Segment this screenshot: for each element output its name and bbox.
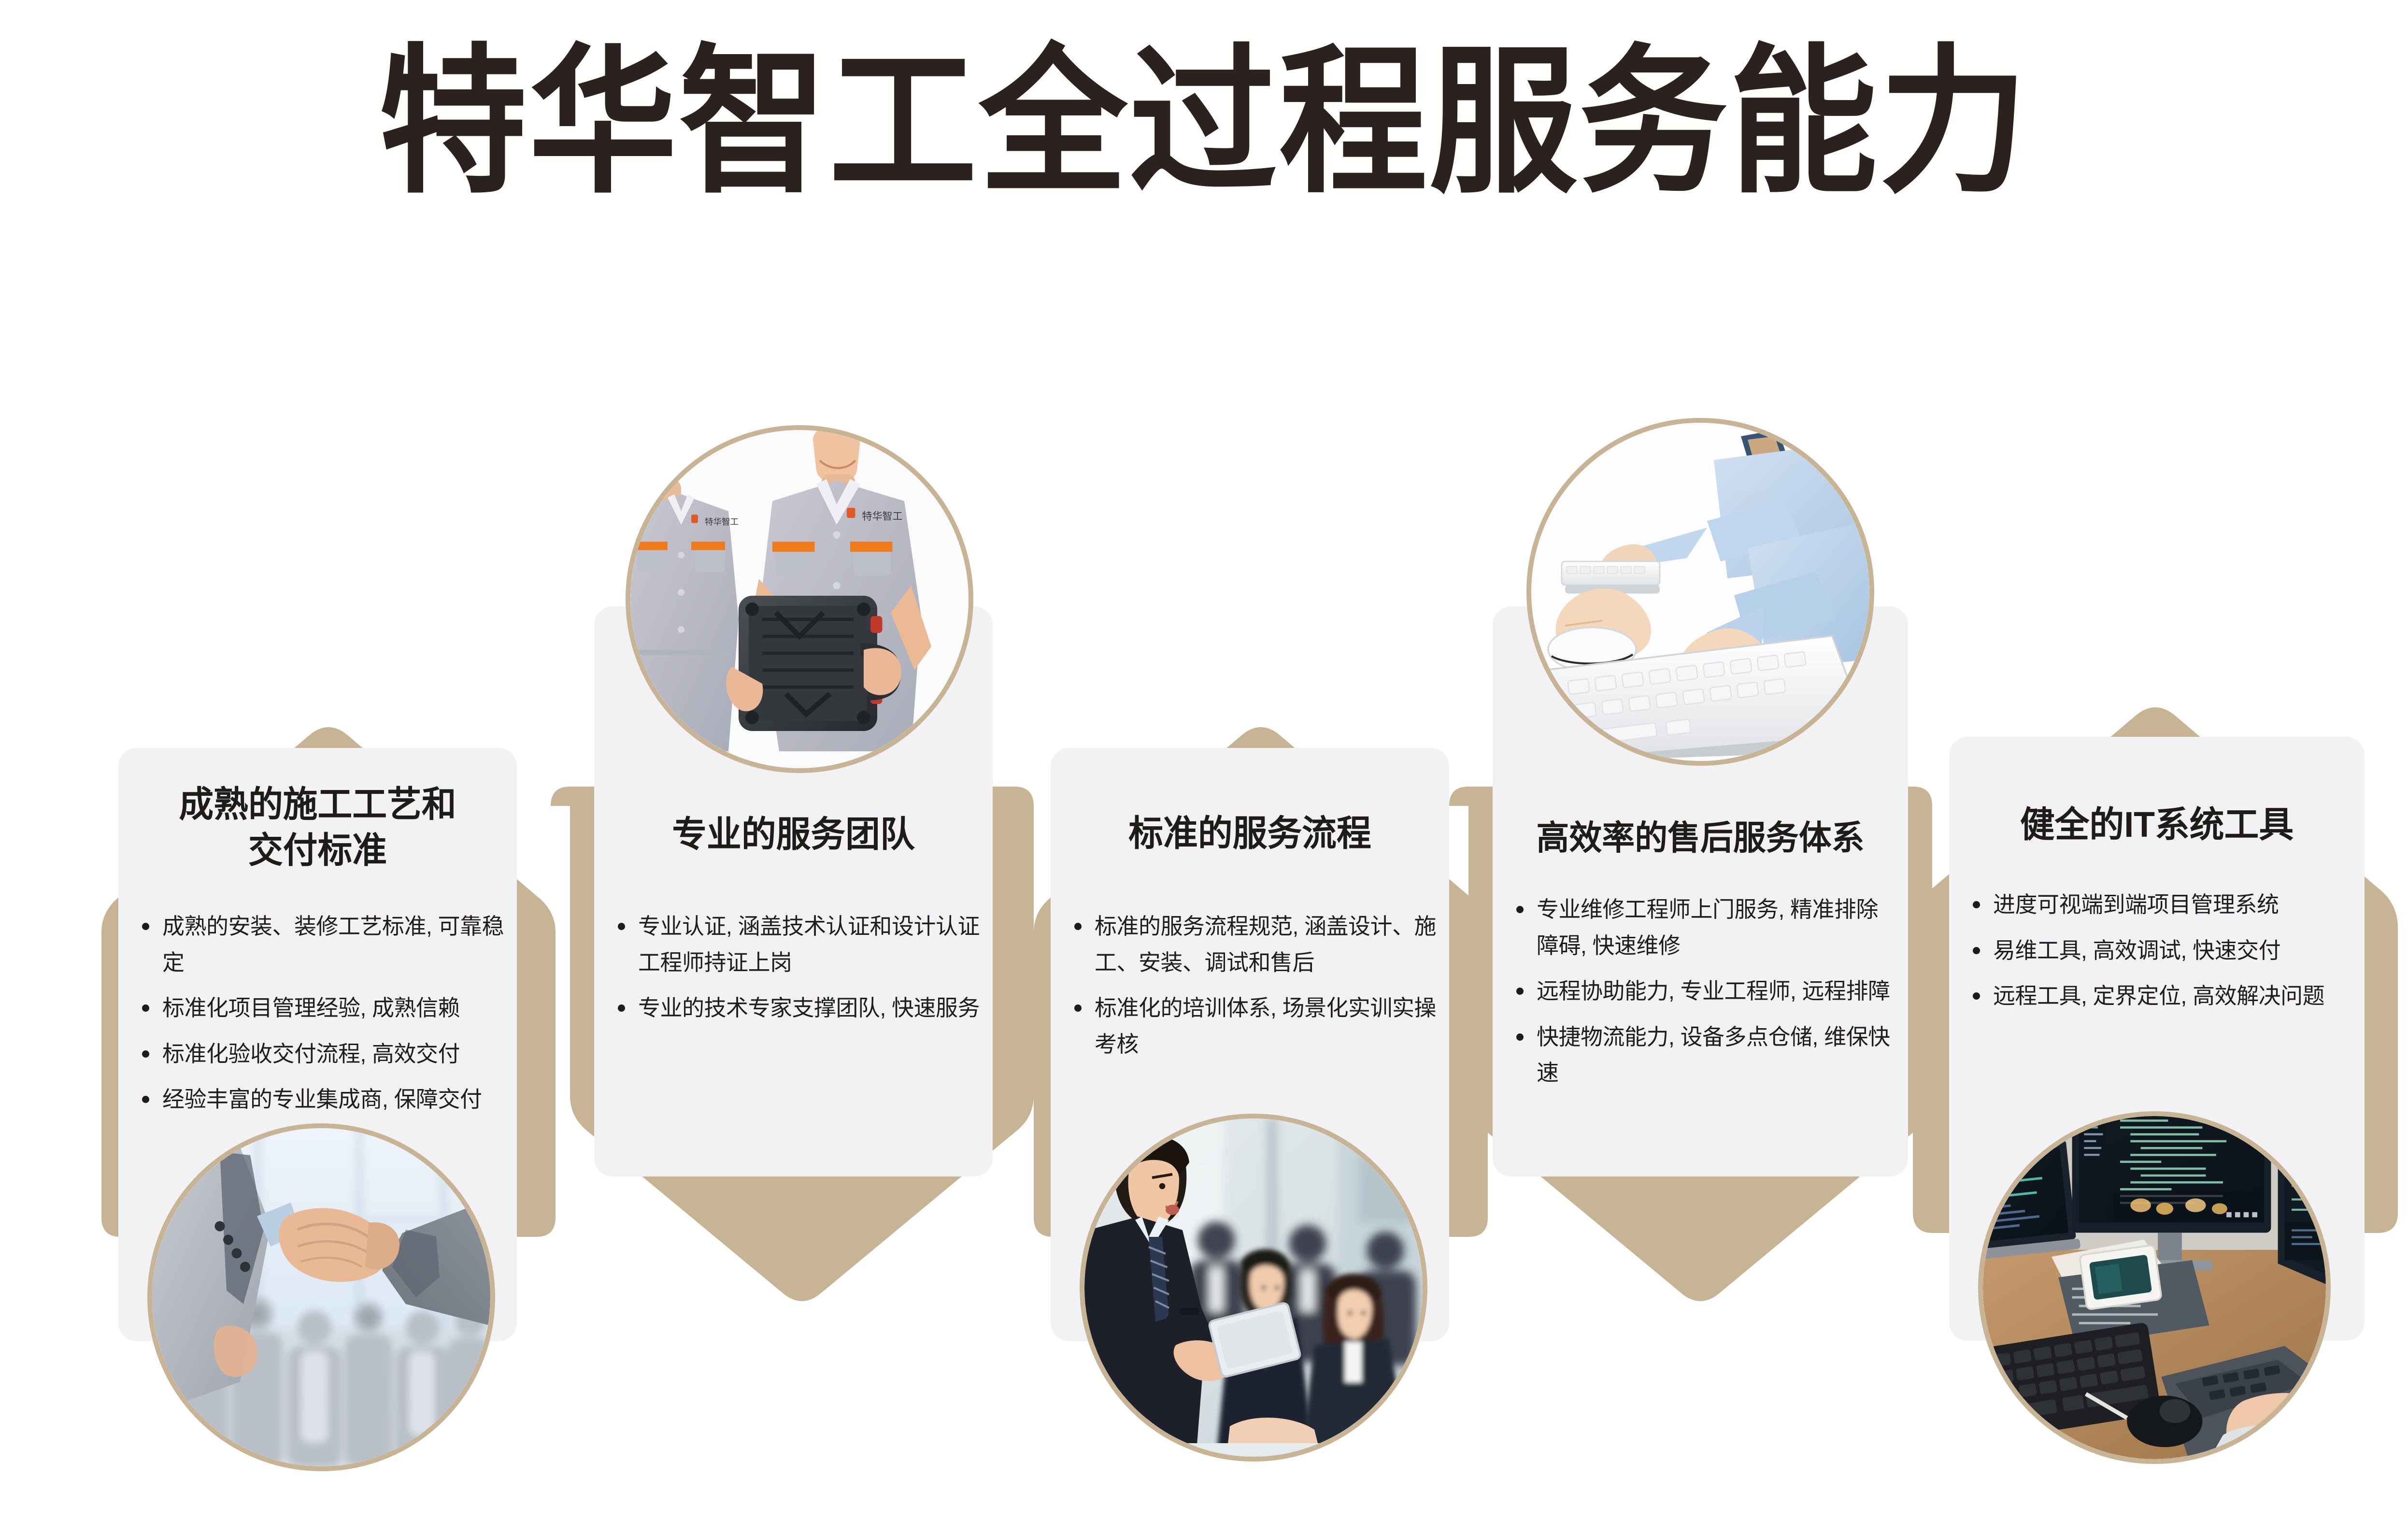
card-3-bullets: 标准的服务流程规范, 涵盖设计、施工、安装、调试和售后 标准化的培训体系, 场景… [1072,908,1439,1072]
card-4-title: 高效率的售后服务体系 [1499,817,1902,860]
developer-workstation-photo-art [1983,1116,2326,1459]
svg-text:特华智工: 特华智工 [705,517,739,527]
card-column-4: 高效率的售后服务体系 专业维修工程师上门服务, 精准排除障碍, 快速维修 远程协… [1449,0,1932,1520]
card-5-title: 健全的IT系统工具 [1955,802,2358,848]
technicians-photo-art: 特华智工 [630,430,969,768]
list-item: 标准化项目管理经验, 成熟信赖 [140,990,507,1026]
list-item: 标准化的培训体系, 场景化实训实操考核 [1072,990,1439,1062]
training-classroom-photo [1080,1114,1427,1462]
support-keyboard-photo [1526,418,1874,766]
list-item: 专业维修工程师上门服务, 精准排除障碍, 快速维修 [1514,891,1896,963]
list-item: 远程工具, 定界定位, 高效解决问题 [1971,978,2357,1014]
list-item: 快捷物流能力, 设备多点仓储, 维保快速 [1514,1019,1896,1091]
list-item: 专业的技术专家支撑团队, 快速服务 [616,990,983,1026]
developer-workstation-photo [1978,1111,2331,1464]
list-item: 易维工具, 高效调试, 快速交付 [1971,932,2357,969]
card-column-2: 专业的服务团队 专业认证, 涵盖技术认证和设计认证工程师持证上岗 专业的技术专家… [551,0,1034,1520]
card-1-title: 成熟的施工工艺和 交付标准 [124,782,511,873]
card-column-3: 标准的服务流程 标准的服务流程规范, 涵盖设计、施工、安装、调试和售后 标准化的… [1005,0,1488,1520]
card-column-5: 健全的IT系统工具 进度可视端到端项目管理系统 易维工具, 高效调试, 快速交付… [1898,0,2381,1520]
card-column-1: 成熟的施工工艺和 交付标准 成熟的安装、装修工艺标准, 可靠稳定 标准化项目管理… [72,0,556,1520]
card-2-bullets: 专业认证, 涵盖技术认证和设计认证工程师持证上岗 专业的技术专家支撑团队, 快速… [616,908,983,1036]
training-classroom-photo-art [1084,1118,1423,1457]
handshake-photo-art [152,1128,490,1466]
card-2-title: 专业的服务团队 [600,812,986,858]
support-keyboard-photo-art [1531,423,1869,761]
list-item: 专业认证, 涵盖技术认证和设计认证工程师持证上岗 [616,908,983,980]
list-item: 标准化验收交付流程, 高效交付 [140,1036,507,1072]
infographic-canvas: 特华智工全过程服务能力 成熟的施工工艺和 交付标准 成熟的安装、装修工艺标准, … [0,0,2408,1520]
card-5-bullets: 进度可视端到端项目管理系统 易维工具, 高效调试, 快速交付 远程工具, 定界定… [1971,887,2357,1024]
list-item: 标准的服务流程规范, 涵盖设计、施工、安装、调试和售后 [1072,908,1439,980]
list-item: 经验丰富的专业集成商, 保障交付 [140,1081,507,1118]
card-4-bullets: 专业维修工程师上门服务, 精准排除障碍, 快速维修 远程协助能力, 专业工程师,… [1514,891,1896,1101]
card-1-bullets: 成熟的安装、装修工艺标准, 可靠稳定 标准化项目管理经验, 成熟信赖 标准化验收… [140,908,507,1127]
technicians-photo: 特华智工 [626,425,973,773]
list-item: 远程协助能力, 专业工程师, 远程排障 [1514,973,1896,1009]
list-item: 进度可视端到端项目管理系统 [1971,887,2357,923]
handshake-photo [147,1123,495,1471]
card-3-title: 标准的服务流程 [1056,811,1443,857]
list-item: 成熟的安装、装修工艺标准, 可靠稳定 [140,908,507,980]
svg-text:特华智工: 特华智工 [862,511,903,522]
